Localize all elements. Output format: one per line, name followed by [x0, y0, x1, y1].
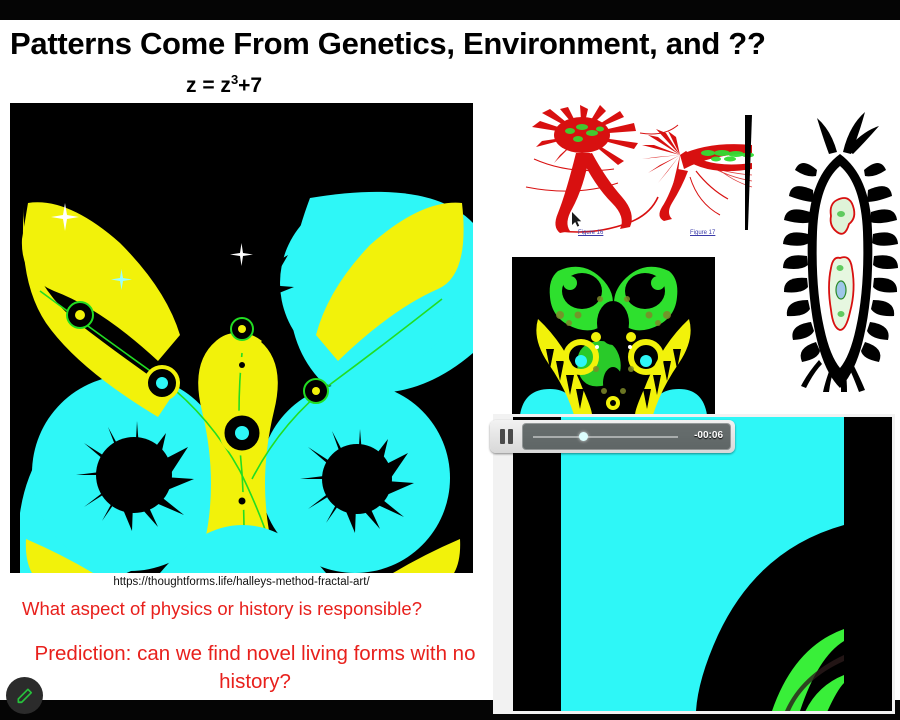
video-frame-content: [561, 417, 844, 711]
video-player[interactable]: -00:06: [493, 414, 895, 714]
video-controls-bar[interactable]: -00:06: [490, 420, 735, 453]
main-fractal-svg: [10, 103, 473, 573]
organism-svg: [783, 108, 898, 393]
scrubber-handle[interactable]: [579, 432, 588, 441]
pencil-icon: [15, 686, 35, 706]
letterbox-top: [0, 0, 900, 20]
prediction-text: Prediction: can we find novel living for…: [20, 640, 490, 695]
formula-suffix: +7: [238, 74, 262, 97]
formula-text: z = z3+7: [186, 72, 262, 98]
figure-strip: Figure 16 Figure 17: [520, 103, 780, 243]
time-remaining-label: -00:06: [694, 430, 723, 441]
video-fractal-svg: [561, 417, 844, 711]
figure-16-caption: Figure 16: [578, 230, 603, 236]
secondary-fractal-svg: [512, 257, 715, 415]
source-url-caption: https://thoughtforms.life/halleys-method…: [10, 576, 473, 588]
formula-prefix: z = z: [186, 74, 231, 97]
mouse-cursor-icon: [572, 212, 582, 227]
figure-strip-svg: [520, 103, 780, 243]
slide-canvas: Patterns Come From Genetics, Environment…: [0, 20, 900, 700]
pause-bar-left: [500, 429, 505, 444]
main-fractal-image: [10, 103, 473, 573]
pause-bar-right: [508, 429, 513, 444]
figure-17-caption: Figure 17: [690, 230, 715, 236]
scrubber-track[interactable]: [533, 436, 678, 438]
edit-fab-button[interactable]: [6, 677, 43, 714]
question-text: What aspect of physics or history is res…: [22, 598, 492, 620]
slide-title: Patterns Come From Genetics, Environment…: [10, 26, 894, 62]
organism-fractal-image: [783, 108, 898, 393]
video-scrubber[interactable]: -00:06: [522, 423, 731, 450]
video-viewport[interactable]: [513, 417, 892, 711]
presentation-stage: Patterns Come From Genetics, Environment…: [0, 0, 900, 720]
pause-button[interactable]: [490, 420, 522, 453]
secondary-fractal-image: [512, 257, 715, 415]
